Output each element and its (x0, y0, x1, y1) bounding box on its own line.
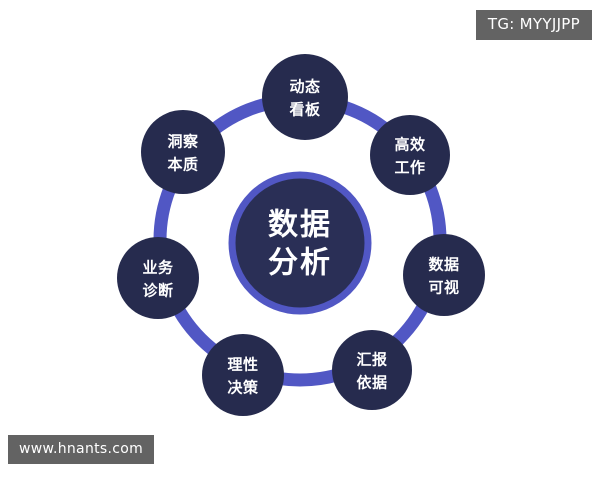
node-circle-shape (202, 334, 284, 416)
node-label-line1: 汇报 (356, 351, 387, 369)
node-rational-decision[interactable]: 理性 决策 (202, 334, 284, 416)
node-label-line1: 业务 (142, 259, 174, 277)
node-label-line1: 理性 (227, 356, 258, 374)
node-label-line2: 工作 (394, 159, 425, 177)
node-label-line2: 决策 (227, 379, 259, 397)
node-data-visualization[interactable]: 数据 可视 (403, 234, 485, 316)
tag-badge: TG: MYYJJPP (476, 10, 592, 40)
node-circle-shape (332, 330, 412, 410)
node-label-line2: 本质 (167, 156, 198, 174)
hub-node[interactable]: 数据 分析 (232, 175, 368, 311)
node-reporting-basis[interactable]: 汇报 依据 (332, 330, 412, 410)
circular-diagram: 数据 分析 动态 看板 高效 工作 数据 可视 汇报 依据 (0, 0, 600, 480)
node-label-line2: 依据 (356, 374, 387, 392)
node-insight-essence[interactable]: 洞察 本质 (141, 110, 225, 194)
infographic-canvas: 数据 分析 动态 看板 高效 工作 数据 可视 汇报 依据 (0, 0, 600, 480)
node-label-line1: 数据 (428, 256, 459, 274)
node-circle-shape (370, 115, 450, 195)
watermark-badge: www.hnants.com (8, 435, 154, 464)
node-dynamic-dashboard[interactable]: 动态 看板 (262, 54, 348, 140)
node-circle-shape (117, 237, 199, 319)
node-label-line2: 诊断 (142, 282, 173, 300)
node-circle-shape (141, 110, 225, 194)
node-label-line1: 高效 (394, 136, 426, 154)
node-label-line1: 动态 (289, 78, 320, 96)
node-label-line2: 可视 (428, 279, 459, 297)
node-circle-shape (403, 234, 485, 316)
node-business-diagnosis[interactable]: 业务 诊断 (117, 237, 199, 319)
node-circle-shape (262, 54, 348, 140)
node-label-line2: 看板 (289, 101, 321, 119)
hub-circle-shape (232, 175, 368, 311)
hub-label-line1: 数据 (268, 208, 332, 243)
node-efficient-work[interactable]: 高效 工作 (370, 115, 450, 195)
node-label-line1: 洞察 (167, 133, 199, 151)
hub-label-line2: 分析 (268, 246, 332, 281)
